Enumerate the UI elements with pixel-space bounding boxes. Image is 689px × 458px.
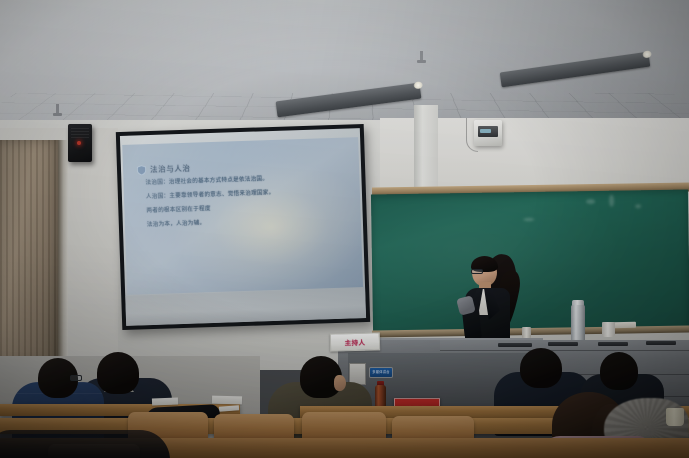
ceiling-mount-2 <box>420 51 423 62</box>
desk-cup-foreground <box>666 408 684 426</box>
slide-title-row: 法治与人治 <box>137 163 191 176</box>
chalk-smudge <box>586 199 595 204</box>
chalkboard-eraser <box>612 322 636 328</box>
speaker-led-indicator <box>77 141 81 145</box>
student-back-row-right-head <box>600 352 638 390</box>
podium-brand-label: 多媒体讲台 <box>370 368 392 377</box>
cabinet-vent <box>598 342 628 346</box>
handout-paper <box>212 396 242 405</box>
student-olive-jacket-face <box>334 375 346 391</box>
slide-line-2: 人治国：主要靠领导者的意志、觉悟来治理国家。 <box>146 189 321 200</box>
curtain-edge <box>58 140 68 368</box>
classroom-photo: 法治与人治 法治国：治理社会的基本方式特点是依法治国。 人治国：主要靠领导者的意… <box>0 0 689 458</box>
wall-control-box <box>474 120 502 146</box>
slide-body: 法治国：治理社会的基本方式特点是依法治国。 人治国：主要靠领导者的意志、觉悟来治… <box>145 175 322 237</box>
control-box-display <box>478 126 498 137</box>
white-cup <box>602 322 615 337</box>
handout-paper <box>152 398 178 406</box>
ceiling-mount-1 <box>56 104 59 115</box>
slide-title: 法治与人治 <box>150 163 191 175</box>
presenter-glasses <box>471 269 483 274</box>
window-curtain <box>0 140 62 365</box>
speaker-grille <box>71 128 89 139</box>
slide-line-1: 法治国：治理社会的基本方式特点是依法治国。 <box>145 175 320 186</box>
presentation-slide: 法治与人治 法治国：治理社会的基本方式特点是依法治国。 人治国：主要靠领导者的意… <box>122 137 363 295</box>
projection-screen: 法治与人治 法治国：治理社会的基本方式特点是依法治国。 人治国：主要靠领导者的意… <box>116 124 370 330</box>
chalk-smudge <box>523 218 534 221</box>
podium-brand-text: 多媒体讲台 <box>370 368 392 377</box>
cabinet-vent <box>548 342 578 346</box>
chalk-smudge <box>609 195 614 207</box>
shield-icon <box>137 165 146 175</box>
chalk-smudge <box>635 204 641 208</box>
cabinet-vent <box>498 343 532 347</box>
student-dark-coat-head <box>97 352 139 394</box>
thermos-flask <box>571 305 585 341</box>
small-cup <box>522 327 531 338</box>
projection-screen-surface: 法治与人治 法治国：治理社会的基本方式特点是依法治国。 人治国：主要靠领导者的意… <box>120 128 366 326</box>
student-back-row-left-head <box>520 348 562 388</box>
podium-white-sign: 主持人 <box>330 332 380 351</box>
foreground-silhouette <box>0 430 170 458</box>
cabinet-seam <box>440 350 689 351</box>
student-blue-puffer-glasses <box>70 375 82 381</box>
wall-speaker <box>68 124 92 162</box>
slide-line-3: 两者的根本区别在于程度 <box>146 204 321 215</box>
slide-line-4: 法治为本，人治为辅。 <box>147 218 322 229</box>
podium-white-sign-text: 主持人 <box>345 337 366 348</box>
cabinet-vent <box>646 341 676 345</box>
